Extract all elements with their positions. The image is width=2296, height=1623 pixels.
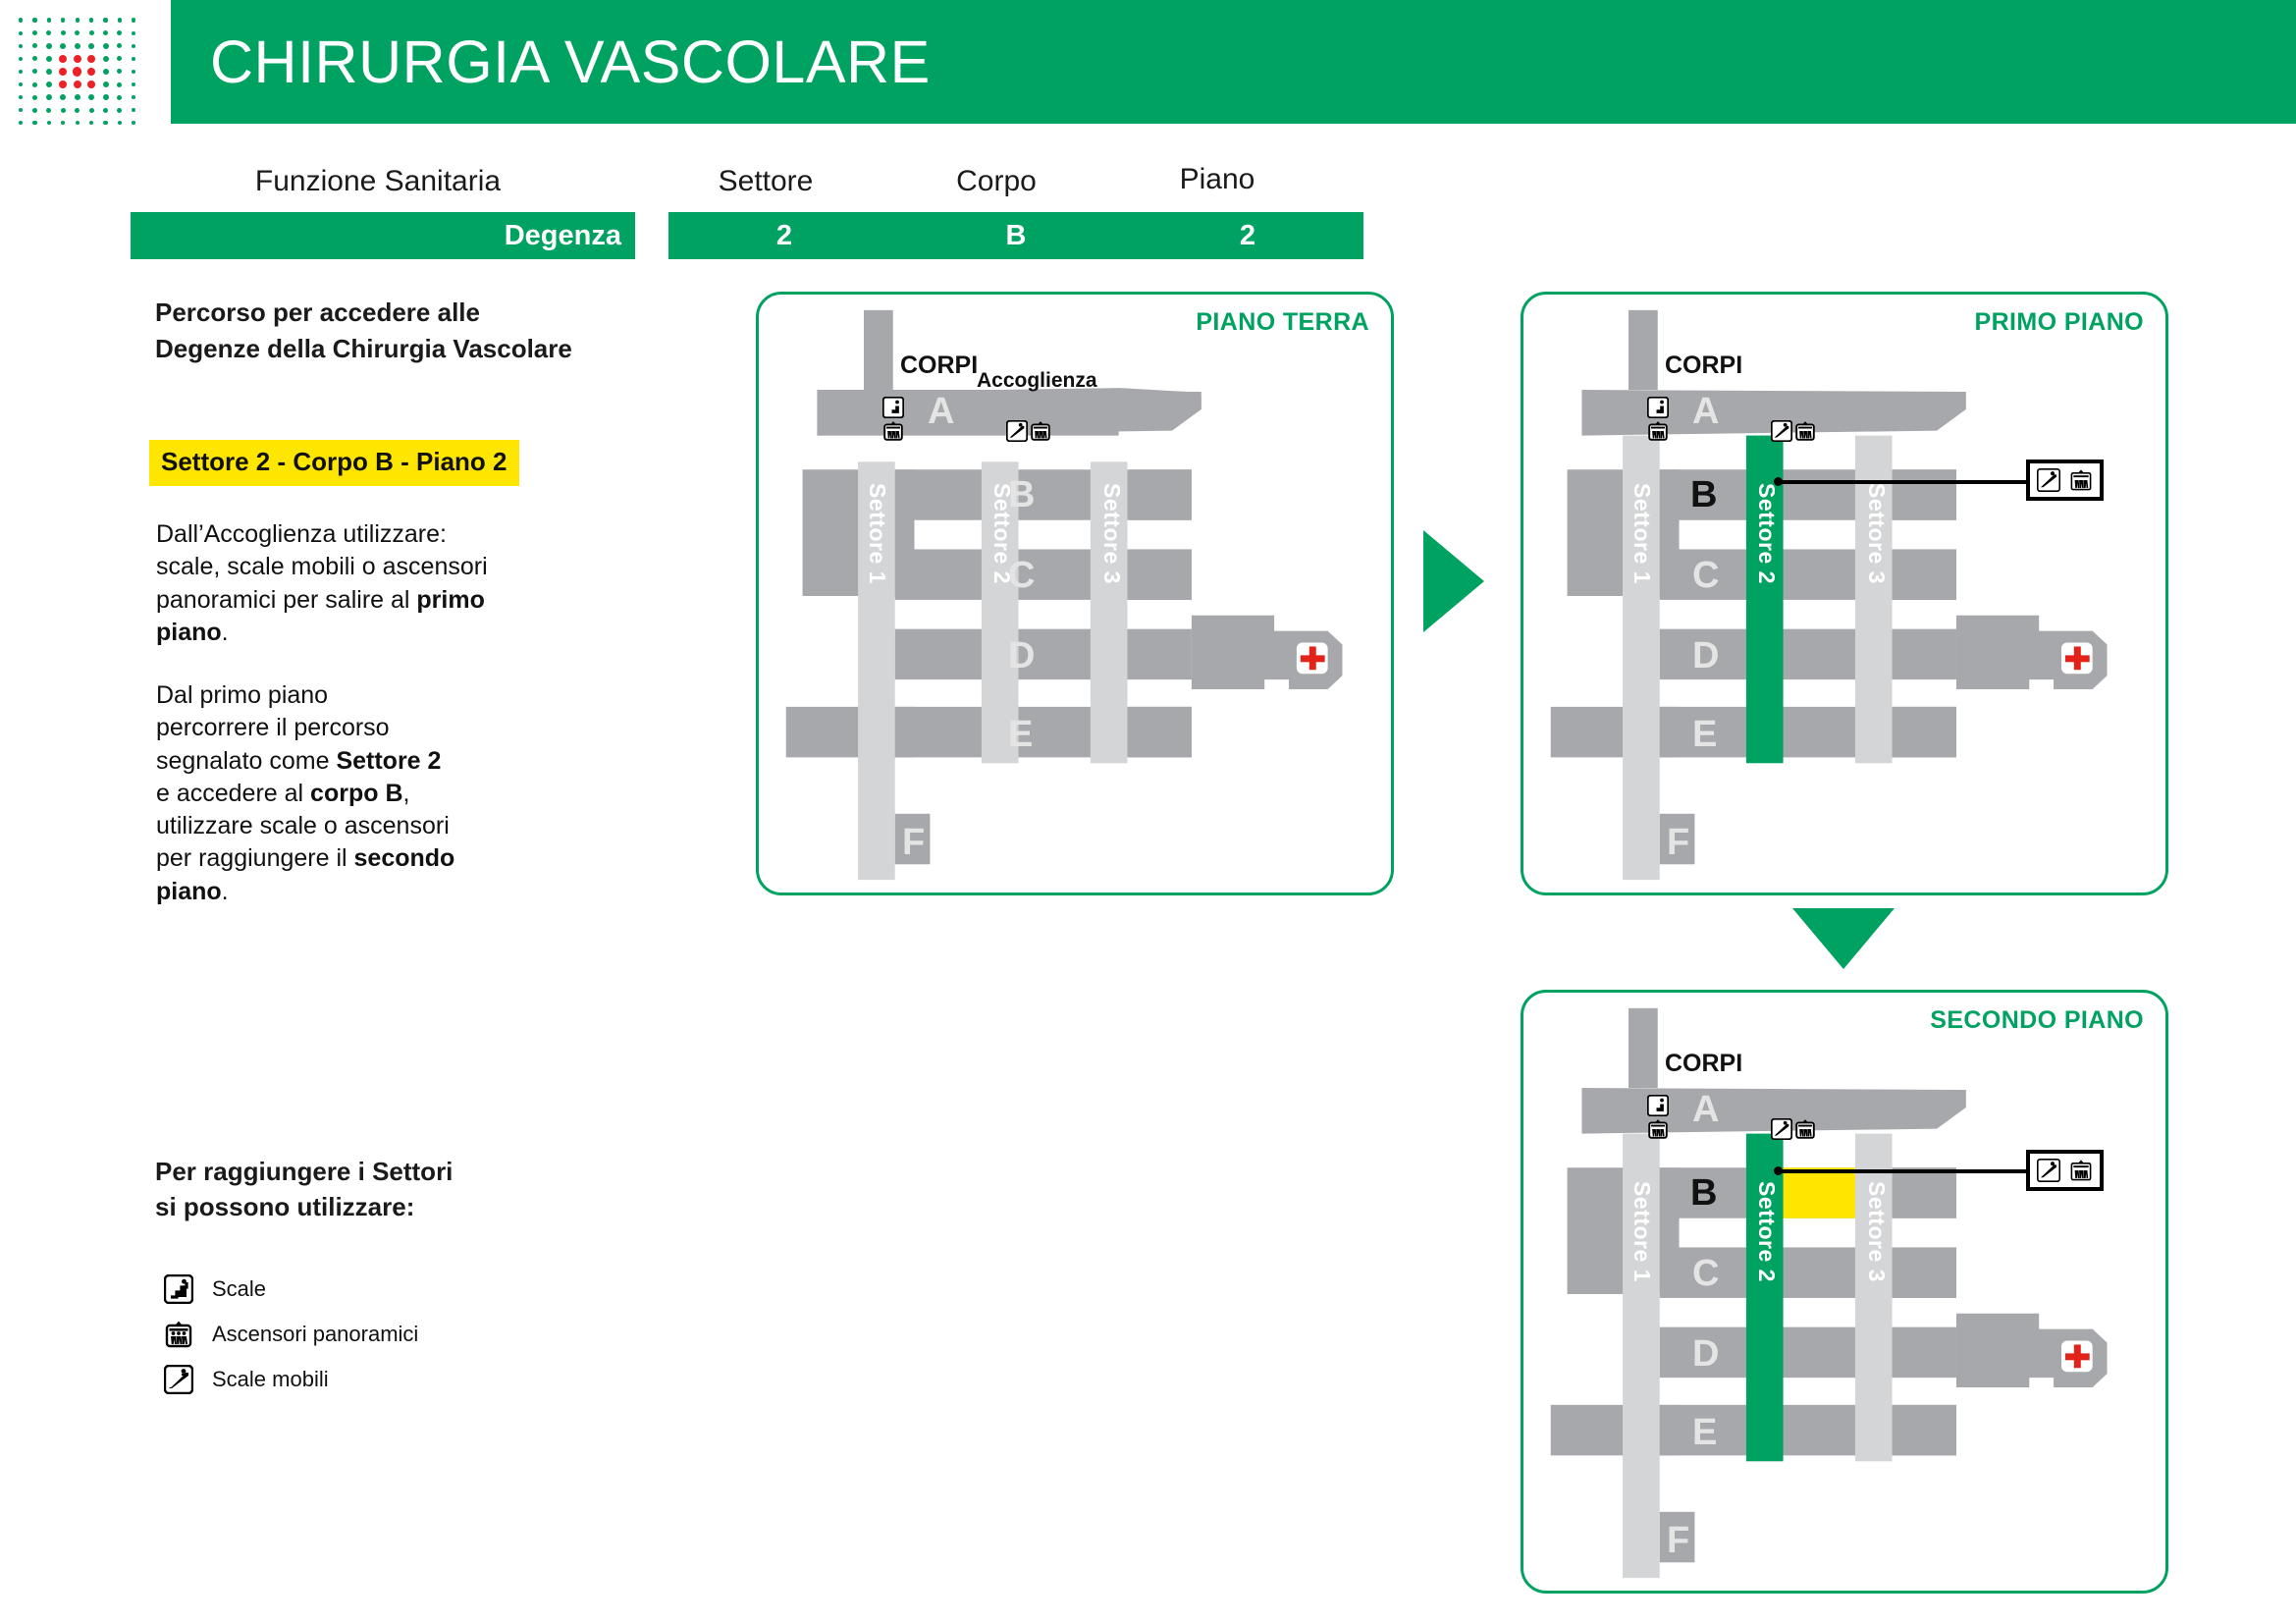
p2-l6b: secondo	[354, 844, 455, 872]
p1-l1: Dall’Accoglienza utilizzare:	[156, 520, 447, 548]
label-piano: Piano	[1139, 163, 1296, 196]
callout-box-second	[2026, 1150, 2104, 1191]
logo-dot	[117, 43, 122, 48]
panoramic-elevator-icon	[164, 1320, 193, 1349]
logo-dot	[32, 108, 37, 113]
p1-end: .	[222, 619, 229, 646]
stairs-icon-first-a	[1647, 397, 1669, 418]
logo-dot	[59, 81, 67, 88]
logo-dot	[61, 30, 66, 35]
logo-dot	[103, 18, 107, 22]
floorplan-second-svg	[1523, 993, 2165, 1591]
logo-dot	[103, 121, 107, 125]
corpo-letter-b-second: B	[1690, 1174, 1717, 1212]
logo-dot	[61, 108, 66, 113]
logo-dot	[47, 121, 51, 125]
logo-dot	[76, 121, 80, 125]
logo-dot	[103, 108, 108, 113]
corpo-letter-e-second: E	[1692, 1414, 1717, 1451]
settore-1-label-ground: Settore 1	[864, 483, 890, 584]
panoramic-elevator-icon-first-a2	[1794, 420, 1816, 442]
logo-dot	[19, 82, 23, 86]
p2-l3a: segnalato come	[156, 747, 336, 775]
stairs-icon	[164, 1274, 193, 1304]
logo-dot	[46, 43, 52, 49]
logo-dot-row	[14, 117, 141, 130]
settore-1-label-second: Settore 1	[1629, 1181, 1655, 1282]
intro-heading: Percorso per accedere alle Degenze della…	[155, 295, 646, 367]
callout-leader-line-first	[1778, 480, 2027, 484]
logo-dot-row	[14, 27, 141, 39]
legend-item-ascensori: Ascensori panoramici	[164, 1312, 615, 1357]
intro-line-2: Degenze della Chirurgia Vascolare	[155, 331, 646, 367]
logo-dot	[118, 18, 122, 22]
logo-dot	[117, 56, 122, 61]
funzione-value-bar: Degenza	[131, 212, 635, 259]
settore-value: 2	[668, 212, 900, 259]
logo-dot	[32, 82, 37, 87]
escalator-icon	[164, 1365, 193, 1394]
logo-dot	[19, 57, 23, 61]
logo-dot	[59, 55, 67, 63]
p1-l3: panoramici per salire al	[156, 586, 416, 614]
hospital-dot-grid-logo	[14, 14, 141, 130]
logo-dot	[117, 69, 122, 74]
corpo-letter-f-first: F	[1667, 824, 1689, 861]
p2-l4b: corpo B	[310, 780, 402, 807]
corpi-caption-ground: CORPI	[900, 352, 978, 380]
logo-dot	[88, 94, 94, 100]
logo-dot	[132, 44, 135, 48]
p2-l5: utilizzare scale o ascensori	[156, 812, 450, 839]
corpo-letter-f-ground: F	[902, 824, 925, 861]
settore-2-label-second: Settore 2	[1753, 1181, 1780, 1282]
callout-box-first	[2026, 460, 2104, 501]
logo-dot	[75, 43, 80, 49]
logo-dot	[46, 94, 52, 100]
map-panel-secondo-piano[interactable]: SECONDO PIANO Settore 1 Settore 2	[1521, 990, 2168, 1594]
logo-dot	[117, 30, 122, 35]
logo-dot	[46, 81, 52, 87]
logo-dot	[132, 31, 135, 35]
logo-dot	[74, 55, 81, 63]
map-panel-piano-terra[interactable]: PIANO TERRA	[756, 292, 1394, 895]
piano-value: 2	[1132, 212, 1363, 259]
settore-3-label-first: Settore 3	[1863, 483, 1890, 584]
logo-dot	[19, 108, 23, 112]
logo-dot	[103, 81, 109, 87]
logo-dot	[103, 69, 109, 75]
p2-l4a: e accedere al	[156, 780, 310, 807]
label-settore: Settore	[687, 165, 844, 198]
corpo-letter-c-second: C	[1692, 1255, 1719, 1292]
header-band: CHIRURGIA VASCOLARE	[171, 0, 2296, 124]
panoramic-elevator-icon-callout-first	[2069, 468, 2093, 492]
corpo-letter-e-ground: E	[1008, 716, 1033, 753]
legend-label-scale-mobili: Scale mobili	[212, 1367, 329, 1392]
intro-line-1: Percorso per accedere alle	[155, 295, 646, 331]
settore-3-label-second: Settore 3	[1863, 1181, 1890, 1282]
location-values-bar: 2 B 2	[668, 212, 1363, 259]
logo-dot	[59, 68, 67, 76]
logo-dot	[32, 69, 37, 74]
logo-dot	[117, 95, 122, 100]
logo-dot-row	[14, 39, 141, 52]
logo-dot	[61, 121, 65, 125]
logo-dot	[32, 43, 37, 48]
label-funzione-sanitaria: Funzione Sanitaria	[128, 165, 628, 198]
corpo-letter-d-first: D	[1692, 637, 1719, 675]
logo-dot	[132, 82, 135, 86]
stairs-icon-ground-a	[882, 397, 904, 418]
logo-dot	[32, 18, 36, 22]
logo-dot	[61, 18, 65, 22]
panoramic-elevator-icon-first-a	[1647, 420, 1669, 442]
logo-dot	[47, 18, 51, 22]
map-stage-first	[1523, 295, 2165, 893]
corpo-letter-b-first: B	[1690, 476, 1717, 514]
logo-dot	[19, 121, 23, 125]
escalator-icon-callout-first	[2037, 468, 2060, 492]
logo-dot	[73, 67, 81, 76]
logo-dot	[32, 30, 37, 35]
logo-dot	[87, 68, 95, 76]
logo-dot	[132, 95, 135, 99]
logo-dot	[88, 43, 94, 49]
escalator-icon-first-a	[1771, 420, 1792, 442]
arrow-ground-to-first	[1423, 530, 1484, 632]
instruction-paragraph-2: Dal primo piano percorrere il percorso s…	[156, 679, 568, 908]
logo-dot-row	[14, 91, 141, 104]
settore-3-label-ground: Settore 3	[1098, 483, 1125, 584]
legend-heading-line-2: si possono utilizzare:	[155, 1189, 577, 1224]
legend-item-scale-mobili: Scale mobili	[164, 1357, 615, 1402]
logo-dot	[46, 30, 51, 35]
panoramic-elevator-icon-callout-second	[2069, 1159, 2093, 1182]
corpo-letter-a-second: A	[1692, 1091, 1719, 1128]
logo-dot-row	[14, 52, 141, 65]
logo-dot	[19, 95, 23, 99]
panoramic-elevator-icon-ground-a2	[1030, 420, 1051, 442]
logo-dot	[75, 30, 80, 35]
logo-dot	[103, 30, 108, 35]
logo-dot-row	[14, 104, 141, 117]
logo-dot	[103, 94, 109, 100]
logo-dot	[19, 18, 23, 22]
p2-l3b: Settore 2	[336, 747, 441, 775]
callout-leader-line-second	[1778, 1169, 2027, 1173]
p1-l2: scale, scale mobili o ascensori	[156, 553, 488, 580]
destination-highlight-chip: Settore 2 - Corpo B - Piano 2	[149, 440, 519, 486]
logo-dot	[19, 31, 23, 35]
escalator-icon-ground-a	[1006, 420, 1028, 442]
corpo-letter-c-first: C	[1692, 557, 1719, 594]
logo-dot	[46, 69, 52, 75]
legend-list: Scale Ascensori panoramici	[164, 1267, 615, 1402]
logo-dot	[19, 70, 23, 74]
logo-dot	[87, 81, 95, 88]
legend-label-scale: Scale	[212, 1276, 266, 1302]
map-panel-primo-piano[interactable]: PRIMO PIANO Settore 1 Settore 2 Settore …	[1521, 292, 2168, 895]
settore-2-label-first: Settore 2	[1753, 483, 1780, 584]
p2-l1: Dal primo piano	[156, 681, 328, 709]
panoramic-elevator-icon-second-a2	[1794, 1118, 1816, 1140]
logo-dot-row	[14, 65, 141, 78]
escalator-icon-callout-second	[2037, 1159, 2060, 1182]
corpo-letter-a-first: A	[1692, 393, 1719, 430]
label-corpo: Corpo	[918, 165, 1075, 198]
floorplan-first-svg	[1523, 295, 2165, 893]
logo-dot	[89, 18, 93, 22]
logo-dot	[132, 121, 135, 125]
logo-dot-row	[14, 14, 141, 27]
p1-b2: piano	[156, 619, 222, 646]
legend-label-ascensori: Ascensori panoramici	[212, 1322, 418, 1347]
logo-dot	[87, 55, 95, 63]
escalator-icon-second-a	[1771, 1118, 1792, 1140]
corpo-letter-e-first: E	[1692, 716, 1717, 753]
p1-b1: primo	[416, 586, 484, 614]
logo-dot	[89, 30, 94, 35]
corpi-caption-first: CORPI	[1665, 352, 1742, 380]
corpo-letter-a-ground: A	[928, 393, 954, 430]
logo-dot	[60, 94, 66, 100]
logo-dot	[132, 18, 135, 22]
p2-l6a: per raggiungere il	[156, 844, 354, 872]
map-stage-second	[1523, 993, 2165, 1591]
logo-dot	[89, 121, 93, 125]
logo-dot	[46, 56, 52, 62]
corpo-value: B	[900, 212, 1132, 259]
logo-dot	[75, 108, 80, 113]
logo-dot	[46, 108, 51, 113]
corpi-caption-second: CORPI	[1665, 1050, 1742, 1078]
logo-dot	[118, 121, 122, 125]
corpo-letter-d-second: D	[1692, 1335, 1719, 1373]
logo-dot	[75, 94, 80, 100]
p2-l7c: .	[222, 878, 229, 905]
stairs-icon-second-a	[1647, 1095, 1669, 1116]
logo-dot	[19, 44, 23, 48]
panoramic-elevator-icon-ground-a	[882, 420, 904, 442]
accoglienza-caption-ground: Accoglienza	[977, 369, 1097, 393]
logo-dot	[117, 82, 122, 87]
corpo-letter-f-second: F	[1667, 1522, 1689, 1559]
logo-dot	[76, 18, 80, 22]
corpo-letter-c-ground: C	[1008, 557, 1035, 594]
logo-dot	[103, 43, 109, 49]
logo-dot	[132, 70, 135, 74]
logo-dot	[103, 56, 109, 62]
logo-dot	[60, 43, 66, 49]
instruction-paragraph-1: Dall’Accoglienza utilizzare: scale, scal…	[156, 518, 568, 649]
legend-item-scale: Scale	[164, 1267, 615, 1312]
settore-1-label-first: Settore 1	[1629, 483, 1655, 584]
arrow-first-to-second	[1792, 908, 1895, 969]
logo-dot	[32, 95, 37, 100]
p2-l4c: ,	[403, 780, 410, 807]
logo-dot-row	[14, 78, 141, 90]
logo-dot	[74, 81, 81, 88]
corpo-letter-d-ground: D	[1008, 637, 1035, 675]
logo-dot	[117, 108, 122, 113]
legend-heading: Per raggiungere i Settori si possono uti…	[155, 1154, 577, 1225]
p2-l7b: piano	[156, 878, 222, 905]
corpo-letter-b-ground: B	[1008, 476, 1035, 514]
logo-dot	[32, 56, 37, 61]
logo-dot	[132, 108, 135, 112]
legend-heading-line-1: Per raggiungere i Settori	[155, 1154, 577, 1189]
panoramic-elevator-icon-second-a	[1647, 1118, 1669, 1140]
logo-dot	[89, 108, 94, 113]
page-title: CHIRURGIA VASCOLARE	[171, 0, 2296, 124]
logo-dot	[32, 121, 36, 125]
logo-dot	[132, 57, 135, 61]
p2-l2: percorrere il percorso	[156, 714, 390, 741]
